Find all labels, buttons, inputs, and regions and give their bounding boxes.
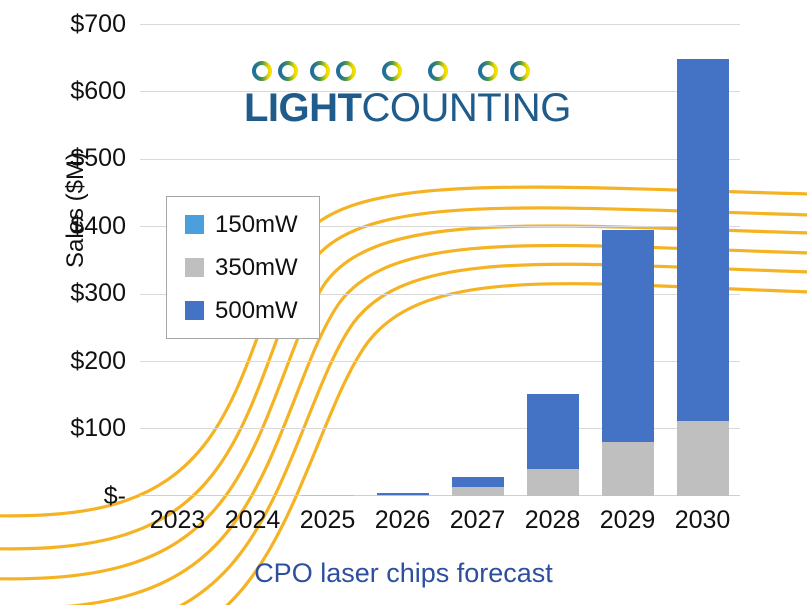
chart-caption-text: CPO laser chips forecast [254,558,553,589]
bar-segment-2027-500mW [452,477,504,488]
legend-swatch-150mw [185,215,204,234]
bar-2025[interactable] [302,495,354,496]
y-tick-500: $500 [26,146,126,171]
bar-2030[interactable] [677,59,729,496]
chart-caption: CPO laser chips forecast [0,558,807,589]
legend-swatch-500mw [185,301,204,320]
x-tick-2028: 2028 [515,503,590,537]
chart-legend: 150mW 350mW 500mW [166,196,320,339]
y-tick-700: $700 [26,12,126,37]
bar-segment-2029-350mW [602,442,654,496]
legend-swatch-350mw [185,258,204,277]
bar-column-2030 [665,24,740,496]
x-tick-2025: 2025 [290,503,365,537]
bar-2027[interactable] [452,477,504,497]
chart-root: Sales ($M) $700 $600 $500 $400 $300 $200… [0,0,807,605]
bar-segment-2030-500mW [677,59,729,421]
bar-column-2029 [590,24,665,496]
logo-dot-chain-icon [244,58,554,84]
legend-label-350mw: 350mW [215,256,298,280]
bar-segment-2029-500mW [602,230,654,442]
y-tick-300: $300 [26,281,126,306]
lightcounting-logo: LIGHTCOUNTING [244,58,554,138]
legend-label-150mw: 150mW [215,213,298,237]
logo-word-light: LIGHT [244,86,361,130]
y-tick-0: $- [26,484,126,509]
bar-segment-2025-350mW [302,495,354,496]
bar-2026[interactable] [377,493,429,496]
bar-segment-2026-350mW [377,495,429,496]
y-tick-400: $400 [26,214,126,239]
x-tick-2029: 2029 [590,503,665,537]
y-tick-600: $600 [26,79,126,104]
legend-item-500mw[interactable]: 500mW [167,299,319,323]
y-axis-ticks: $700 $600 $500 $400 $300 $200 $100 $- [0,24,126,496]
bar-2028[interactable] [527,394,579,496]
x-tick-2024: 2024 [215,503,290,537]
x-tick-2030: 2030 [665,503,740,537]
bar-2029[interactable] [602,230,654,496]
legend-label-500mw: 500mW [215,299,298,323]
bar-segment-2028-500mW [527,394,579,469]
x-tick-2023: 2023 [140,503,215,537]
logo-word-counting: COUNTING [361,86,570,130]
legend-item-350mw[interactable]: 350mW [167,256,319,280]
y-tick-200: $200 [26,349,126,374]
x-tick-2026: 2026 [365,503,440,537]
x-axis-ticks: 2023 2024 2025 2026 2027 2028 2029 2030 [140,503,740,537]
bar-segment-2027-350mW [452,487,504,496]
x-tick-2027: 2027 [440,503,515,537]
bar-segment-2030-350mW [677,421,729,496]
bar-segment-2028-350mW [527,469,579,496]
legend-item-150mw[interactable]: 150mW [167,213,319,237]
y-tick-100: $100 [26,416,126,441]
